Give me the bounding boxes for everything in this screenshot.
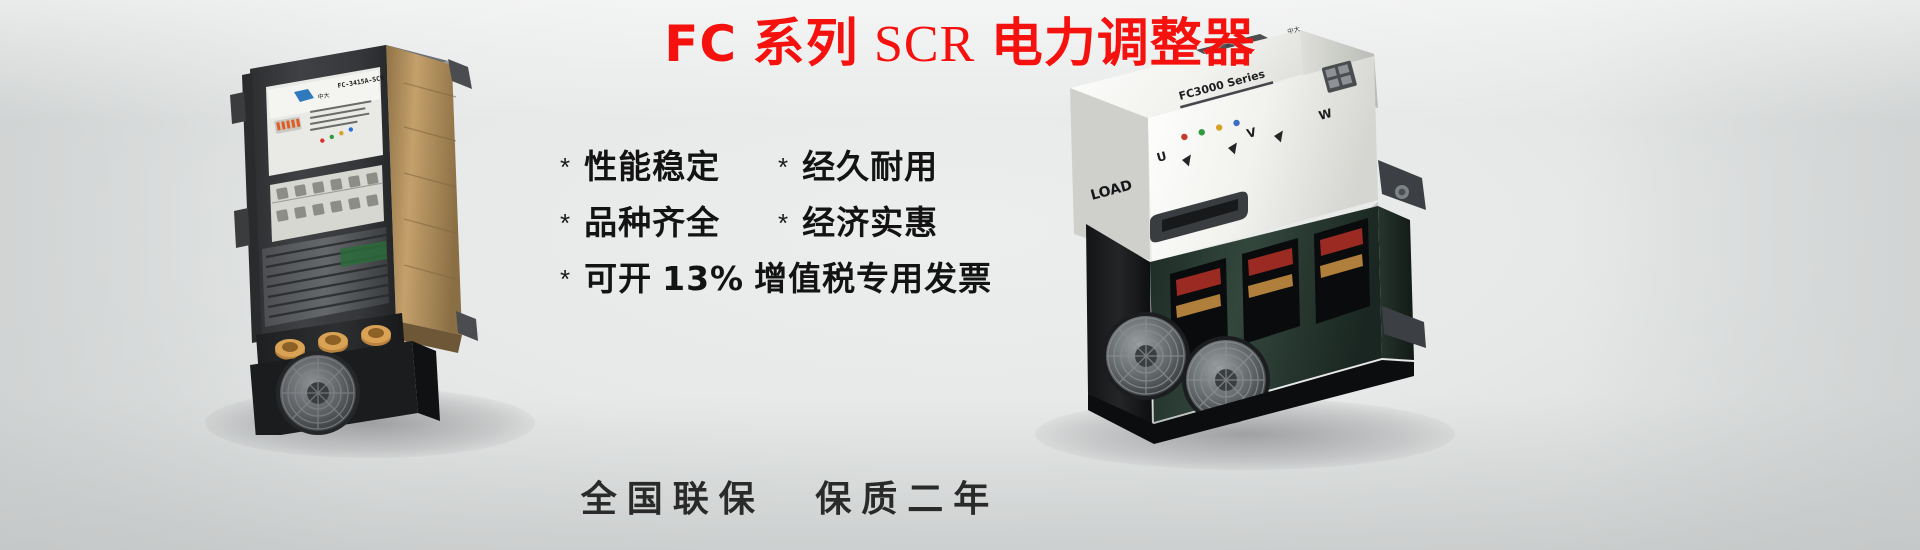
product-image-left: 中大 FC-3415A-SCR (190, 35, 550, 435)
feature-label: 经久耐用 (802, 140, 938, 188)
invoice-suffix: 增值税专用发票 (754, 252, 992, 300)
headline-brand: FC (664, 15, 737, 73)
headline-tech: SCR (874, 16, 975, 73)
tagline: 全国联保 保质二年 (560, 470, 1020, 522)
tagline-separator (787, 478, 815, 520)
feature-row: * 品种齐全 * 经济实惠 (560, 196, 1020, 252)
headline-product: 电力调整器 (991, 14, 1256, 74)
feature-list: * 性能稳定 * 经久耐用 * 品种齐全 * 经济实惠 * 可开 13% (560, 140, 1020, 308)
invoice-percent: 13% (662, 259, 744, 298)
headline-series: 系列 (753, 14, 859, 74)
feature-item: * 经久耐用 (778, 140, 938, 188)
tagline-left: 全国联保 (581, 478, 765, 520)
promo-banner: 中大 FC-3415A-SCR (0, 0, 1920, 550)
feature-item: * 可开 13% 增值税专用发票 (560, 252, 992, 300)
page-title: FC 系列 SCR 电力调整器 (0, 8, 1920, 81)
feature-label: 品种齐全 (584, 196, 720, 244)
bullet-star-icon: * (560, 154, 570, 180)
bullet-star-icon: * (778, 210, 788, 236)
feature-item: * 品种齐全 (560, 196, 778, 244)
bullet-star-icon: * (560, 266, 570, 292)
feature-label: 性能稳定 (584, 140, 720, 188)
tagline-right: 保质二年 (815, 478, 999, 520)
bullet-star-icon: * (778, 154, 788, 180)
invoice-prefix: 可开 (584, 252, 652, 300)
bullet-star-icon: * (560, 210, 570, 236)
feature-item: * 性能稳定 (560, 140, 778, 188)
feature-label: 经济实惠 (802, 196, 938, 244)
feature-row: * 性能稳定 * 经久耐用 (560, 140, 1020, 196)
feature-item: * 经济实惠 (778, 196, 938, 244)
feature-row-invoice: * 可开 13% 增值税专用发票 (560, 252, 1020, 308)
